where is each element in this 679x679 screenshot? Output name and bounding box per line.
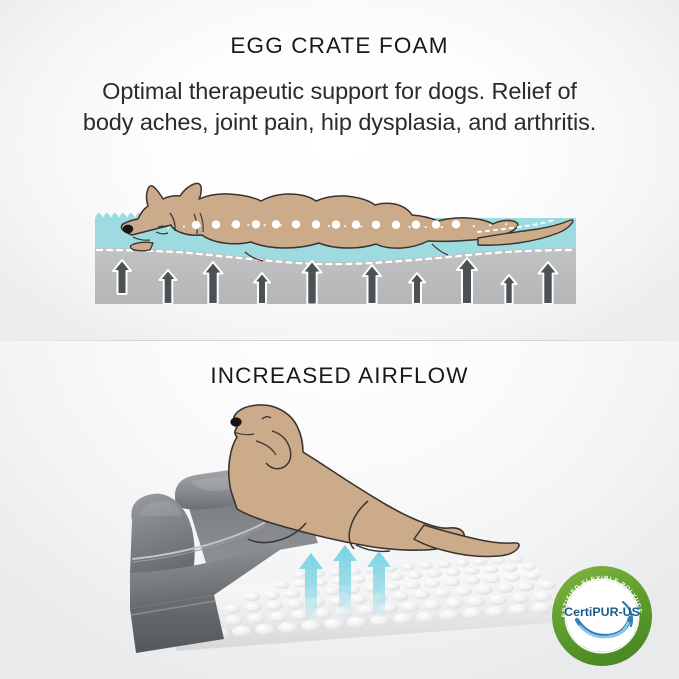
- dog-front-paw: [130, 242, 153, 251]
- airflow-arrows: [299, 545, 391, 619]
- badge-center-text: CertiPUR-US: [564, 605, 640, 619]
- description-line-1: Optimal therapeutic support for dogs. Re…: [0, 76, 679, 107]
- dog-resting-tail: [414, 525, 519, 556]
- panel-divider: [0, 340, 679, 341]
- product-infographic: EGG CRATE FOAM Optimal therapeutic suppo…: [0, 0, 679, 679]
- foam-stack: [95, 183, 576, 304]
- increased-airflow-title: INCREASED AIRFLOW: [0, 363, 679, 389]
- dog-nose: [123, 225, 133, 234]
- foam-cross-section-illustration: [0, 160, 679, 320]
- dog-resting-nose: [230, 417, 241, 426]
- egg-crate-foam-title: EGG CRATE FOAM: [0, 33, 679, 59]
- badge-trademark-symbol: ®: [637, 604, 641, 611]
- description-line-2: body aches, joint pain, hip dysplasia, a…: [0, 107, 679, 138]
- egg-crate-foam-description: Optimal therapeutic support for dogs. Re…: [0, 76, 679, 138]
- certipur-us-badge: CONTAINS CERTIFIED FLEXIBLE POLYURETHANE…: [550, 564, 654, 668]
